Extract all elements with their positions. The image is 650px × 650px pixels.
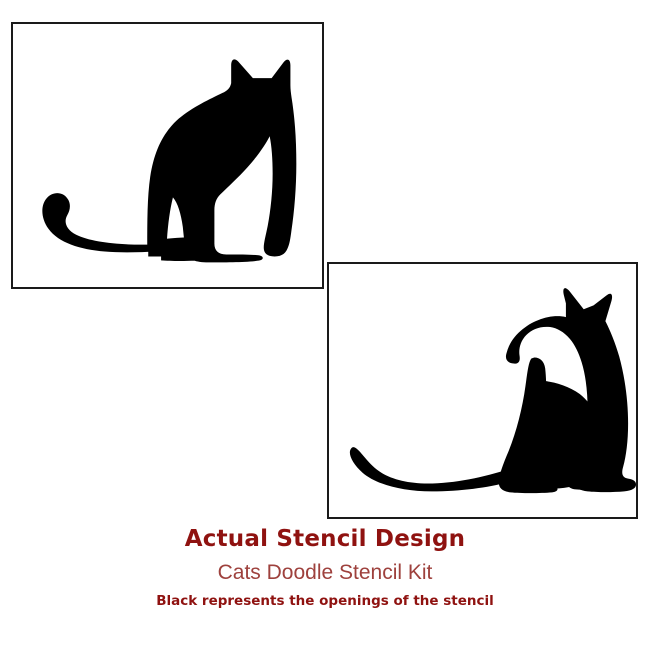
cat-silhouette-left-icon: Sitting cat facing left stencil sheet <box>329 264 636 517</box>
caption-block: Actual Stencil Design Cats Doodle Stenci… <box>0 528 650 609</box>
caption-note: Black represents the openings of the ste… <box>0 595 650 609</box>
stencil-preview-canvas: Sitting cat facing right stencil sheet S… <box>0 0 650 650</box>
stencil-sheet-1: Sitting cat facing right stencil sheet <box>11 22 324 289</box>
caption-subtitle: Cats Doodle Stencil Kit <box>0 562 650 583</box>
cat-silhouette-right-icon: Sitting cat facing right stencil sheet <box>13 24 322 287</box>
caption-title: Actual Stencil Design <box>0 528 650 551</box>
stencil-sheet-2: Sitting cat facing left stencil sheet <box>327 262 638 519</box>
